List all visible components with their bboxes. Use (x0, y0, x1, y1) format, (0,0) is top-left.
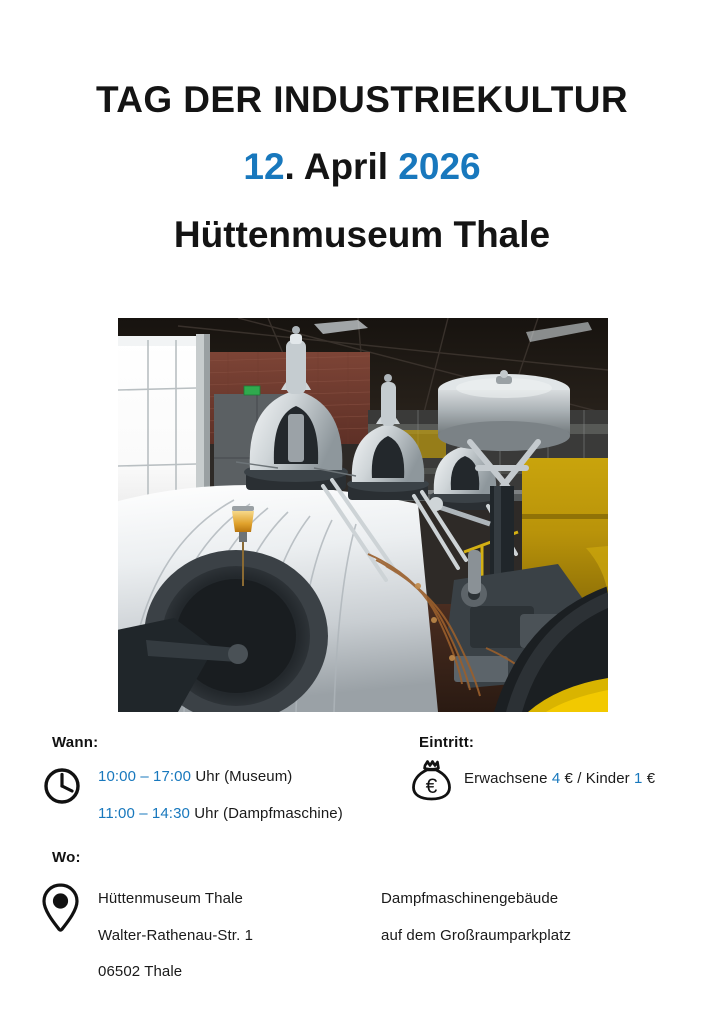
steam-dash: – (135, 805, 152, 822)
adults-price: 4 (552, 770, 560, 787)
event-date-day: 12 (243, 146, 284, 187)
steam-engine-photo-illustration (118, 318, 608, 712)
admission-prices: Erwachsene 4 € / Kinder 1 € (464, 770, 655, 787)
location-pin-icon (38, 882, 83, 934)
where-label: Wo: (52, 849, 81, 866)
page-title: TAG DER INDUSTRIEKULTUR (0, 80, 724, 121)
money-bag-icon: € (407, 756, 455, 804)
admission-label: Eintritt: (419, 734, 474, 751)
address-street: Walter-Rathenau-Str. 1 (98, 927, 253, 944)
museum-dash: – (136, 768, 153, 785)
adults-label: Erwachsene (464, 770, 552, 787)
children-currency: € (642, 770, 655, 787)
event-date-month: . April (285, 146, 399, 187)
opening-hours-museum: 10:00 – 17:00 Uhr (Museum) (98, 768, 292, 785)
venue-heading: Hüttenmuseum Thale (0, 215, 724, 256)
children-label: Kinder (586, 770, 634, 787)
location-detail: auf dem Großraumparkplatz (381, 927, 571, 944)
event-date-year: 2026 (398, 146, 480, 187)
event-date: 12. April 2026 (0, 147, 724, 188)
museum-end-time: 17:00 (153, 768, 191, 785)
steam-suffix: Uhr (Dampfmaschine) (190, 805, 343, 822)
clock-icon (41, 765, 83, 807)
poster-header: TAG DER INDUSTRIEKULTUR 12. April 2026 H… (0, 80, 724, 256)
steam-engine-photo (118, 318, 608, 712)
museum-start-time: 10:00 (98, 768, 136, 785)
address-city: 06502 Thale (98, 963, 182, 980)
when-label: Wann: (52, 734, 98, 751)
opening-hours-steam-engine: 11:00 – 14:30 Uhr (Dampfmaschine) (98, 805, 343, 822)
location-building: Dampfmaschinengebäude (381, 890, 558, 907)
museum-suffix: Uhr (Museum) (191, 768, 292, 785)
address-name: Hüttenmuseum Thale (98, 890, 243, 907)
steam-start-time: 11:00 (98, 805, 135, 822)
steam-end-time: 14:30 (152, 805, 190, 822)
adults-currency: € / (560, 770, 586, 787)
svg-text:€: € (426, 775, 438, 798)
